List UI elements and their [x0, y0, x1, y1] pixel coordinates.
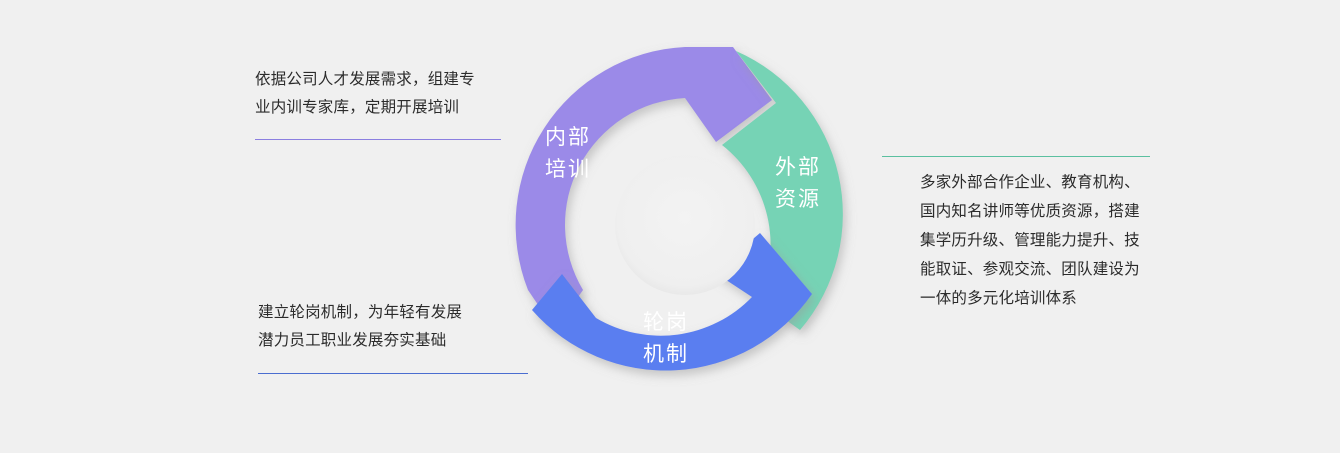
note-rotation-divider [258, 373, 528, 374]
note-internal-line-2: 业内训专家库，定期开展培训 [255, 94, 475, 122]
note-external-divider [882, 156, 1150, 157]
donut-center-hole [615, 155, 755, 295]
note-external-line-3: 集学历升级、管理能力提升、技 [920, 226, 1140, 255]
note-internal-training: 依据公司人才发展需求，组建专 业内训专家库，定期开展培训 [255, 66, 475, 122]
diagram-canvas: 内部 培训 外部 资源 轮岗 机制 依据公司人才发展需求，组建专 业内训专家库，… [0, 0, 1340, 453]
note-rotation-mechanism: 建立轮岗机制，为年轻有发展 潜力员工职业发展夯实基础 [258, 299, 462, 355]
note-internal-divider [255, 139, 501, 140]
note-internal-line-1: 依据公司人才发展需求，组建专 [255, 66, 475, 94]
note-external-line-4: 能取证、参观交流、团队建设为 [920, 255, 1140, 284]
note-external-line-5: 一体的多元化培训体系 [920, 284, 1140, 313]
note-external-line-2: 国内知名讲师等优质资源，搭建 [920, 197, 1140, 226]
note-external-line-1: 多家外部合作企业、教育机构、 [920, 168, 1140, 197]
note-rotation-line-1: 建立轮岗机制，为年轻有发展 [258, 299, 462, 327]
note-external-resources: 多家外部合作企业、教育机构、 国内知名讲师等优质资源，搭建 集学历升级、管理能力… [920, 168, 1140, 313]
note-rotation-line-2: 潜力员工职业发展夯实基础 [258, 327, 462, 355]
